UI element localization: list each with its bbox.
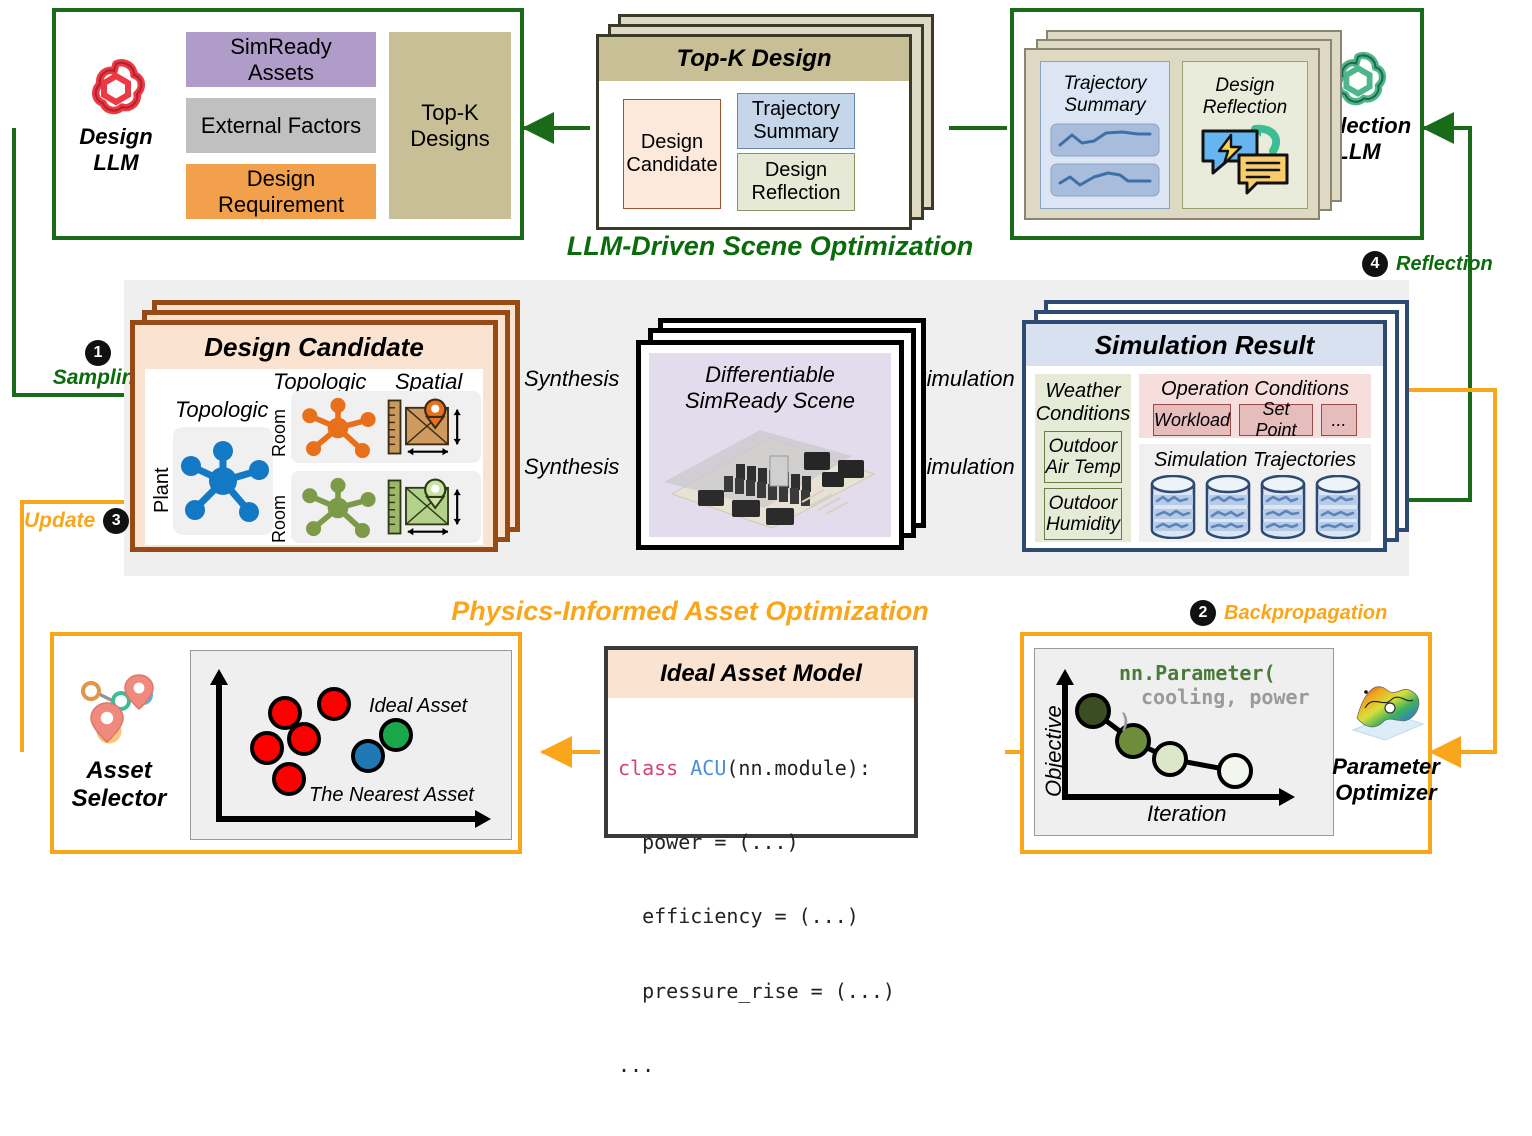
spatial-layout-green-icon (385, 475, 469, 539)
loss-surface-3d-icon (1343, 678, 1429, 744)
code-cls: ACU (690, 756, 726, 780)
ideal-asset-model-code: class ACU(nn.module): power = (...) effi… (608, 698, 914, 1136)
top-k-card-front: Top-K Design Design Candidate Trajectory… (596, 34, 912, 230)
scene-title-1: Differentiable (705, 362, 835, 388)
top-k-design-title: Top-K Design (599, 37, 909, 81)
star-graph-green-icon (291, 474, 385, 540)
trajectory-cylinder-icon-2 (1204, 475, 1252, 539)
room-m-row (291, 471, 481, 543)
top-k-trajectory-summary: Trajectory Summary (737, 93, 855, 149)
star-graph-blue-icon (173, 427, 273, 535)
top-k-design-candidate: Design Candidate (623, 99, 721, 209)
scene-card-front: Differentiable SimReady Scene (636, 340, 904, 550)
simulation-trajectories-title: Simulation Trajectories (1154, 449, 1356, 472)
optimizer-chart: Objective Iteration nn.Parameter( coolin… (1034, 648, 1334, 836)
reflection-llm-panel: Reflection LLM Trajectory Summary Design… (1010, 8, 1424, 240)
bottom-section-title: Physics-Informed Asset Optimization (390, 596, 990, 627)
asset-scatter-chart: Ideal Asset The Nearest Asset (190, 650, 512, 840)
plant-topologic-label: Topologic (175, 397, 268, 423)
design-requirement-block: Design Requirement (186, 164, 376, 219)
top-section-title: LLM-Driven Scene Optimization (560, 231, 980, 262)
room-1-row (291, 391, 481, 463)
synthesis-label-2: Synthesis (524, 454, 619, 480)
top-k-designs-block: Top-K Designs (389, 32, 511, 219)
design-llm-identity: Design LLM (64, 30, 168, 200)
trajectory-summary-panel: Trajectory Summary (1040, 61, 1170, 209)
step-2-label: Backpropagation (1224, 602, 1387, 625)
asset-selector-name-2: Selector (72, 785, 167, 813)
design-llm-name-2: LLM (93, 150, 138, 176)
design-reflection-panel: Design Reflection (1182, 61, 1308, 209)
code-line-5: ... (618, 1053, 904, 1078)
operation-more-chip: ... (1321, 404, 1357, 436)
trajectory-sparkline-icon-2 (1050, 163, 1160, 197)
ideal-asset-model-panel: Ideal Asset Model class ACU(nn.module): … (604, 646, 918, 838)
code-pl: (nn.module): (726, 756, 871, 780)
design-llm-name-1: Design (79, 124, 152, 150)
design-candidate-stack: Design Candidate Topologic Spatial Topol… (130, 300, 530, 555)
reflection-card-stack: Trajectory Summary Design Reflection (1024, 30, 1354, 226)
simready-assets-block: SimReady Assets (186, 32, 376, 87)
asset-selector-name-1: Asset (86, 757, 151, 785)
external-factors-block: External Factors (186, 98, 376, 153)
asset-selector-panel: Asset Selector Ideal Asset The Nearest A… (50, 632, 522, 854)
synthesis-label-1: Synthesis (524, 366, 619, 392)
ideal-asset-label: Ideal Asset (369, 695, 467, 718)
datacenter-3d-render-icon (652, 416, 888, 536)
design-llm-panel: Design LLM SimReady Assets External Fact… (52, 8, 524, 240)
trajectory-sparkline-icon (1050, 123, 1160, 157)
outdoor-humidity-chip: Outdoor Humidity (1044, 488, 1122, 540)
design-candidate-title: Design Candidate (135, 325, 493, 369)
step-3-badge: 3 (103, 508, 129, 534)
code-line-3: efficiency = (...) (618, 904, 904, 929)
top-k-design-reflection: Design Reflection (737, 153, 855, 211)
optimizer-code-line-3: ) (1119, 709, 1131, 733)
step-1-badge: 1 (85, 340, 111, 366)
reflection-card-front: Trajectory Summary Design Reflection (1024, 48, 1320, 220)
reflection-chat-icon (1197, 121, 1293, 195)
scene-title-2: SimReady Scene (685, 388, 855, 414)
trajectory-cylinder-icon-3 (1259, 475, 1307, 539)
plant-topologic-graph (173, 427, 273, 535)
step-2-backpropagation: 2 Backpropagation (1190, 600, 1387, 626)
code-line-4: pressure_rise = (...) (618, 979, 904, 1004)
step-4-label: Reflection (1396, 253, 1493, 276)
operation-conditions-title: Operation Conditions (1161, 378, 1349, 401)
plant-label: Plant (151, 449, 174, 513)
code-line-1: class ACU(nn.module): (618, 756, 904, 781)
code-kw: class (618, 756, 690, 780)
spatial-layout-orange-icon (385, 395, 469, 459)
scene-inner: Differentiable SimReady Scene (649, 353, 891, 537)
asset-graph-pin-icon (77, 673, 161, 749)
simulation-result-title: Simulation Result (1026, 324, 1383, 366)
simulation-result-stack: Simulation Result Weather Conditions Out… (1022, 300, 1422, 558)
step-3-label: Update (24, 509, 95, 533)
nearest-asset-label: The Nearest Asset (309, 784, 474, 807)
top-k-design-stack: Top-K Design Design Candidate Trajectory… (596, 14, 946, 234)
weather-conditions-panel: Weather Conditions Outdoor Air Temp Outd… (1035, 374, 1131, 542)
code-line-2: power = (...) (618, 830, 904, 855)
parameter-optimizer-name-1: Parameter (1332, 754, 1440, 780)
parameter-optimizer-name-2: Optimizer (1335, 780, 1436, 806)
simulation-result-body: Weather Conditions Outdoor Air Temp Outd… (1035, 374, 1374, 542)
operation-conditions-panel: Operation Conditions Workload Set Point … (1139, 374, 1371, 438)
simready-scene-stack: Differentiable SimReady Scene (636, 318, 936, 558)
weather-conditions-title: Weather Conditions (1036, 380, 1131, 425)
optimizer-ylabel: Objective (1041, 687, 1067, 797)
workload-chip: Workload (1153, 404, 1231, 436)
step-4-reflection: 4 Reflection (1362, 251, 1493, 277)
asset-selector-identity: Asset Selector (60, 658, 178, 828)
outdoor-air-temp-chip: Outdoor Air Temp (1044, 431, 1122, 483)
design-candidate-body: Topologic Spatial Topologic Plant (145, 369, 483, 545)
step-3-update: Update 3 (24, 508, 129, 534)
star-graph-orange-icon (291, 394, 385, 460)
set-point-chip: Set Point (1239, 404, 1313, 436)
design-reflection-label: Design Reflection (1203, 75, 1288, 119)
optimizer-xlabel: Iteration (1147, 801, 1227, 827)
simulation-trajectories-panel: Simulation Trajectories (1139, 444, 1371, 542)
asset-scatter-svg (191, 651, 511, 839)
trajectory-cylinder-icon-4 (1314, 475, 1362, 539)
ideal-asset-model-title: Ideal Asset Model (608, 650, 914, 698)
optimizer-code-line-2: cooling, power (1141, 685, 1310, 709)
trajectory-summary-label: Trajectory Summary (1063, 73, 1146, 117)
trajectory-cylinder-icon (1149, 475, 1197, 539)
sim-result-card-front: Simulation Result Weather Conditions Out… (1022, 320, 1387, 552)
step-4-badge: 4 (1362, 251, 1388, 277)
parameter-optimizer-panel: Objective Iteration nn.Parameter( coolin… (1020, 632, 1432, 854)
parameter-optimizer-identity: Parameter Optimizer (1340, 652, 1432, 832)
design-candidate-card-front: Design Candidate Topologic Spatial Topol… (130, 320, 498, 552)
openai-logo-red-icon (83, 54, 149, 118)
optimizer-code-line-1: nn.Parameter( (1119, 661, 1276, 685)
step-2-badge: 2 (1190, 600, 1216, 626)
